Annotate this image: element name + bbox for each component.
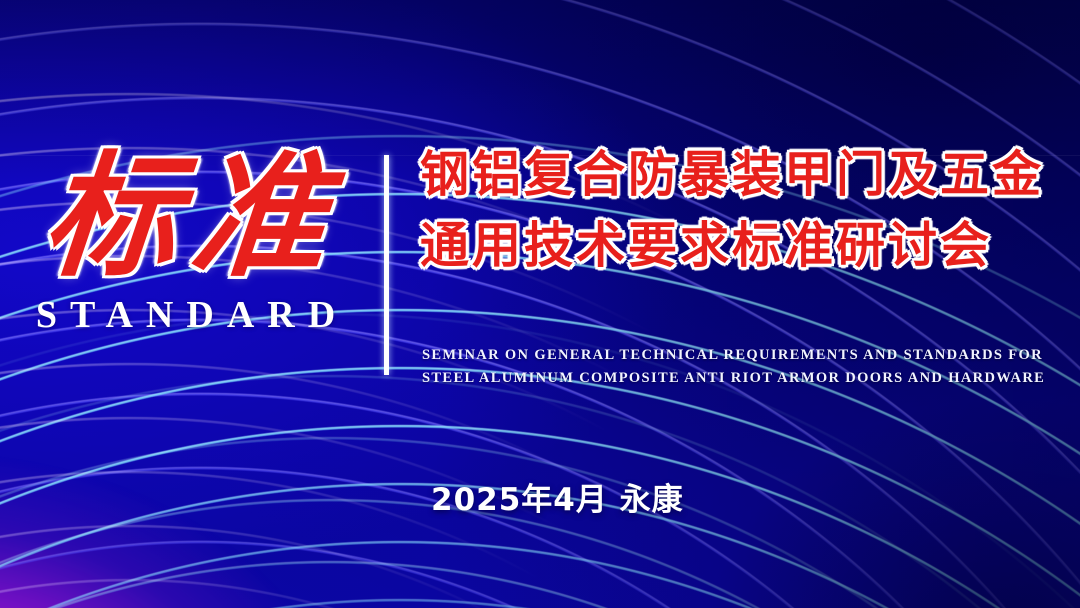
brand-chinese-calligraphy: 标准 — [0, 150, 376, 287]
subtitle-line-1: SEMINAR ON GENERAL TECHNICAL REQUIREMENT… — [422, 344, 1062, 367]
subtitle-block: SEMINAR ON GENERAL TECHNICAL REQUIREMENT… — [422, 344, 1062, 391]
banner-content: 标准 STANDARD 钢铝复合防暴装甲门及五金 通用技术要求标准研讨会 SEM… — [0, 0, 1080, 608]
brand-english-wordmark: STANDARD — [0, 293, 370, 337]
title-line-2: 通用技术要求标准研讨会 — [420, 221, 1060, 270]
subtitle-line-2: STEEL ALUMINUM COMPOSITE ANTI RIOT ARMOR… — [422, 367, 1062, 390]
title-line-1: 钢铝复合防暴装甲门及五金 — [420, 150, 1060, 199]
conference-banner: 标准 STANDARD 钢铝复合防暴装甲门及五金 通用技术要求标准研讨会 SEM… — [0, 0, 1080, 608]
brand-lockup: 标准 STANDARD — [0, 150, 370, 337]
date-location-text: 2025年4月 永康 — [431, 474, 684, 519]
title-block: 钢铝复合防暴装甲门及五金 通用技术要求标准研讨会 — [420, 150, 1060, 270]
vertical-divider — [384, 155, 389, 375]
